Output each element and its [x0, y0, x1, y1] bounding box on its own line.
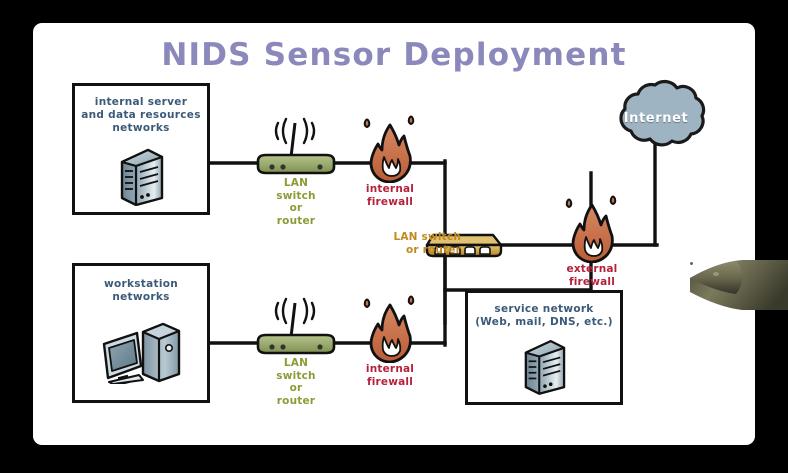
zone-label: workstation networks — [75, 278, 207, 304]
desktop-workstation-icon — [99, 318, 183, 384]
cloud-label: Internet — [595, 111, 717, 126]
zone-label: internal server and data resources netwo… — [75, 96, 207, 135]
node-lan-switch-bottom[interactable]: LAN switch or router — [248, 295, 344, 385]
pen-tip-dot — [690, 262, 693, 265]
zone-service-network[interactable]: service network (Web, mail, DNS, etc.) — [465, 290, 623, 405]
node-label: LAN switch or router — [272, 357, 320, 407]
node-external-firewall[interactable]: external firewall — [553, 193, 631, 289]
node-label: LAN switch or router — [272, 177, 320, 227]
zone-label: service network (Web, mail, DNS, etc.) — [468, 303, 620, 329]
node-label: external firewall — [567, 263, 618, 288]
node-internet-cloud[interactable]: Internet — [595, 79, 717, 159]
zone-internal-server[interactable]: internal server and data resources netwo… — [72, 83, 210, 215]
server-tower-icon — [522, 337, 566, 397]
node-label: LAN switch or router — [369, 231, 461, 256]
node-label: internal firewall — [366, 183, 414, 208]
firewall-flame-icon — [553, 193, 631, 263]
stylus-pen-icon — [680, 248, 788, 318]
server-tower-icon — [118, 148, 164, 206]
node-internal-firewall-top[interactable]: internal firewall — [351, 113, 429, 209]
node-label: internal firewall — [366, 363, 414, 388]
screenshot-stage: NIDS Sensor Deployment — [0, 0, 788, 473]
wireless-router-icon — [248, 115, 344, 177]
node-lan-switch-top[interactable]: LAN switch or router — [248, 115, 344, 205]
node-internal-firewall-bottom[interactable]: internal firewall — [351, 293, 429, 389]
wireless-router-icon — [248, 295, 344, 357]
firewall-flame-icon — [351, 113, 429, 183]
zone-workstation[interactable]: workstation networks — [72, 263, 210, 403]
firewall-flame-icon — [351, 293, 429, 363]
whiteboard-canvas: NIDS Sensor Deployment — [33, 23, 755, 445]
node-lan-switch-core[interactable]: LAN switch or router — [423, 227, 503, 263]
